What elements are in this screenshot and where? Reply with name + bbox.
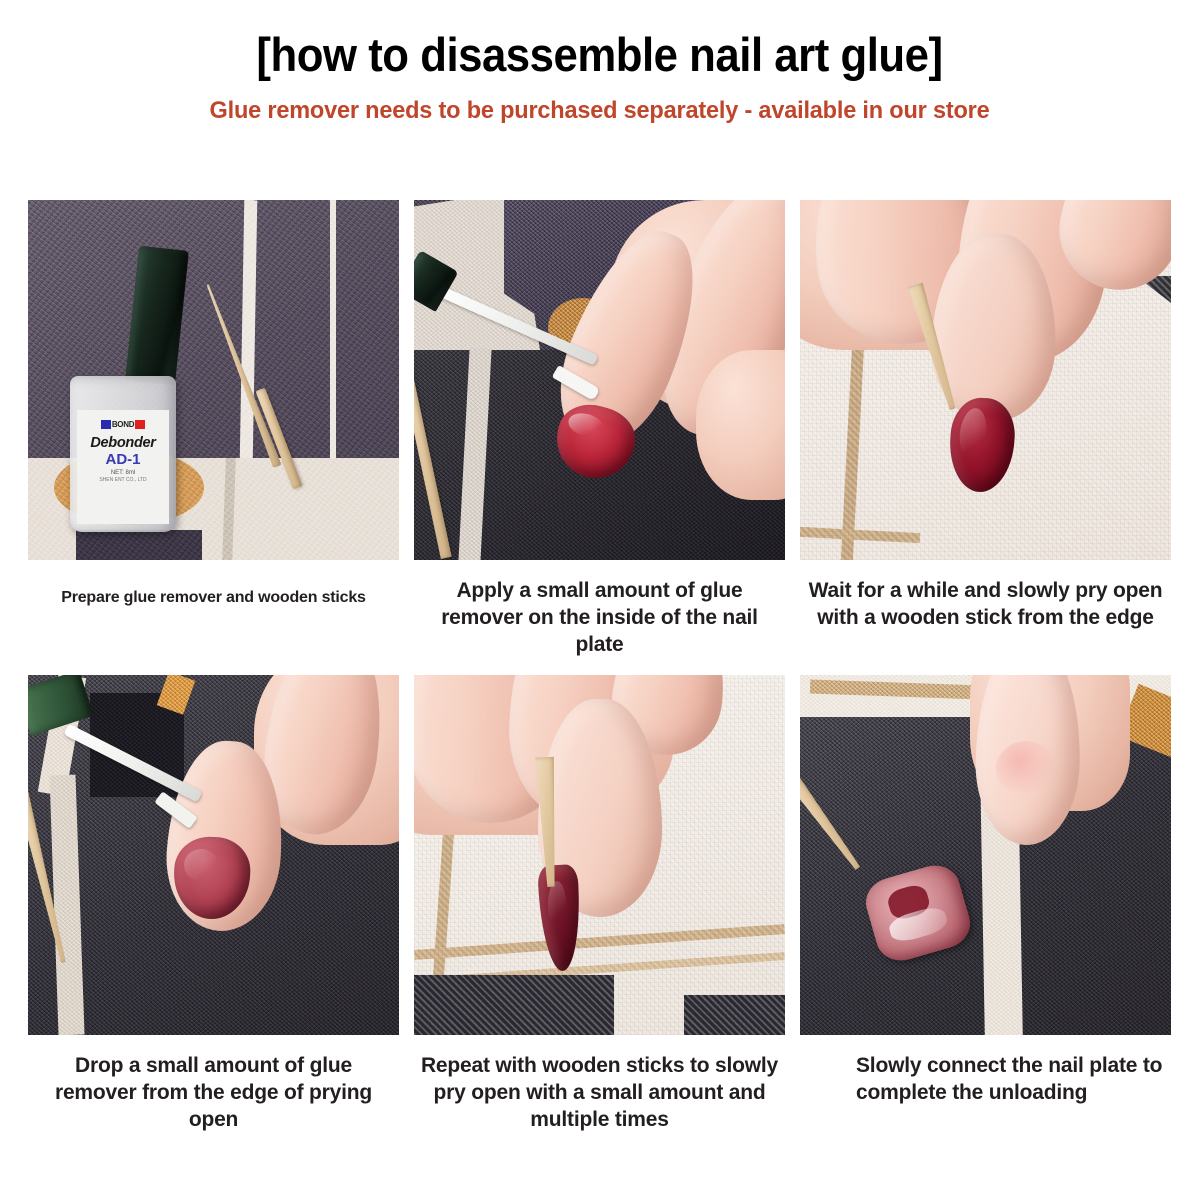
bottle-label: BOND Debonder AD-1 NET: 8ml SHEN ENT CO.… <box>77 410 169 524</box>
steps-row-1: BOND Debonder AD-1 NET: 8ml SHEN ENT CO.… <box>0 200 1199 659</box>
step-caption-2: Apply a small amount of glue remover on … <box>414 560 785 659</box>
nail-gloss <box>184 849 218 881</box>
step-caption-6: Slowly connect the nail plate to complet… <box>800 1035 1171 1107</box>
nail-gloss <box>548 881 566 927</box>
step-caption-5: Repeat with wooden sticks to slowly pry … <box>414 1035 785 1134</box>
steps-row-2: Drop a small amount of glue remover from… <box>0 675 1199 1134</box>
fingertip-nail <box>996 741 1056 797</box>
product-net: NET: 8ml <box>111 470 135 476</box>
step-card-2: Apply a small amount of glue remover on … <box>414 200 785 659</box>
step-image-2 <box>414 200 785 560</box>
page-title: [how to disassemble nail art glue] <box>42 30 1157 81</box>
product-name: Debonder <box>90 435 155 451</box>
brand-logo: BOND <box>101 416 145 433</box>
infographic-page: [how to disassemble nail art glue] Glue … <box>0 0 1199 1200</box>
step-image-1: BOND Debonder AD-1 NET: 8ml SHEN ENT CO.… <box>28 200 399 560</box>
brand-text: BOND <box>112 420 134 429</box>
step-card-3: Wait for a while and slowly pry open wit… <box>800 200 1171 659</box>
step-image-5 <box>414 675 785 1035</box>
step-caption-4: Drop a small amount of glue remover from… <box>28 1035 399 1134</box>
step-card-1: BOND Debonder AD-1 NET: 8ml SHEN ENT CO.… <box>28 200 399 659</box>
step-image-3 <box>800 200 1171 560</box>
step-caption-3: Wait for a while and slowly pry open wit… <box>800 560 1171 632</box>
step-card-5: Repeat with wooden sticks to slowly pry … <box>414 675 785 1134</box>
step-caption-1: Prepare glue remover and wooden sticks <box>28 560 399 608</box>
step-image-4 <box>28 675 399 1035</box>
step-image-6 <box>800 675 1171 1035</box>
product-code: AD-1 <box>105 451 140 468</box>
step-card-6: Slowly connect the nail plate to complet… <box>800 675 1171 1134</box>
header: [how to disassemble nail art glue] Glue … <box>0 0 1199 125</box>
logo-square-red <box>135 420 145 429</box>
product-company: SHEN ENT CO., LTD <box>99 477 146 483</box>
step-card-4: Drop a small amount of glue remover from… <box>28 675 399 1134</box>
page-subtitle: Glue remover needs to be purchased separ… <box>24 97 1175 125</box>
logo-square-blue <box>101 420 111 429</box>
